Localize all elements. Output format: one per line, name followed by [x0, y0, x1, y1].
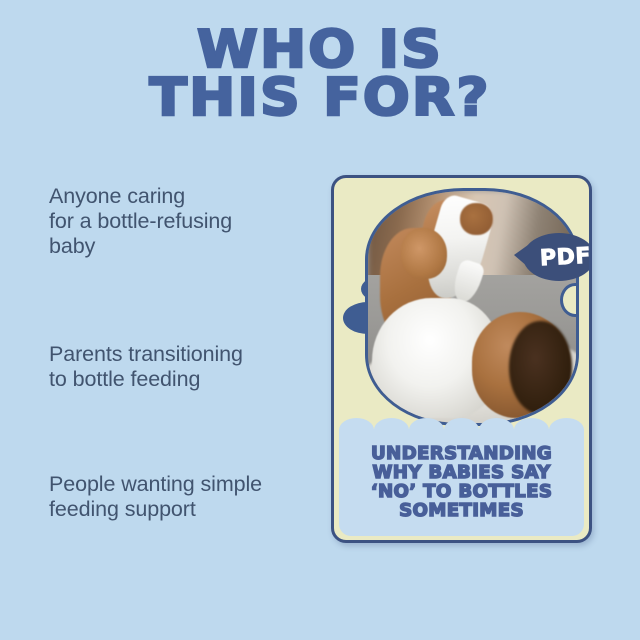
- photo-baby-hair: [509, 321, 571, 414]
- scallop-bump: [409, 418, 444, 442]
- card-title-panel: UNDERSTANDING WHY BABIES SAY ‘NO’ TO BOT…: [339, 429, 584, 536]
- photo-illustration: [368, 191, 576, 423]
- page-title-line-1: WHO IS: [0, 26, 640, 74]
- photo-baby-hand: [401, 228, 447, 279]
- page-title: WHO IS THIS FOR?: [0, 26, 640, 122]
- list-item: People wanting simple feeding support: [49, 472, 339, 522]
- product-card[interactable]: PDF UNDERSTANDING WHY BABIES SAY ‘NO’ TO…: [331, 175, 592, 543]
- poster-canvas: WHO IS THIS FOR? Anyone caring for a bot…: [0, 0, 640, 640]
- pdf-badge: PDF: [523, 233, 592, 281]
- scallop-bump: [339, 418, 374, 442]
- list-item: Parents transitioning to bottle feeding: [49, 342, 329, 392]
- pdf-badge-label: PDF: [539, 243, 591, 271]
- scallop-edge-decoration: [339, 418, 584, 442]
- list-item: Anyone caring for a bottle-refusing baby: [49, 184, 329, 259]
- page-title-line-2: THIS FOR?: [0, 74, 640, 122]
- scallop-bump: [549, 418, 584, 442]
- scallop-bump: [514, 418, 549, 442]
- scallop-bump: [374, 418, 409, 442]
- scallop-bump: [479, 418, 514, 442]
- scallop-bump: [444, 418, 479, 442]
- card-photo-area: [343, 188, 579, 426]
- card-title: UNDERSTANDING WHY BABIES SAY ‘NO’ TO BOT…: [334, 445, 589, 521]
- baby-photo: [365, 188, 579, 426]
- photo-baby-fingers: [460, 203, 493, 235]
